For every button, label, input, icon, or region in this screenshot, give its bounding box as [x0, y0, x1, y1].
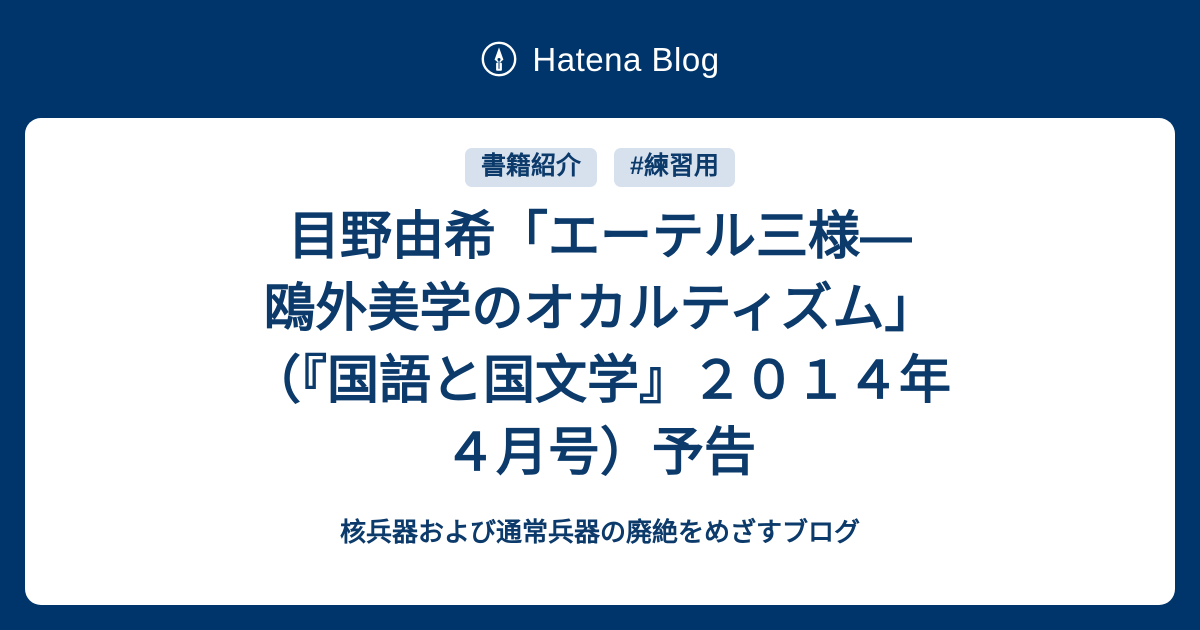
hatena-blog-brand-header: Hatena Blog — [0, 0, 1200, 118]
entry-title-line-1: 目野由希「エーテル三様― — [249, 201, 951, 273]
entry-title-line-3: （『国語と国文学』２０１４年 — [249, 345, 951, 417]
entry-tag-hashtag[interactable]: #練習用 — [614, 148, 735, 187]
blog-subtitle: 核兵器および通常兵器の廃絶をめざすブログ — [340, 517, 860, 548]
pen-nib-in-circle-icon — [480, 40, 518, 78]
entry-title-line-4: ４月号）予告 — [249, 417, 951, 489]
brand-name-label: Hatena Blog — [532, 43, 719, 76]
entry-tag-list: 書籍紹介 #練習用 — [465, 148, 735, 187]
entry-tag-category[interactable]: 書籍紹介 — [465, 148, 597, 187]
entry-title-line-2: 鴎外美学のオカルティズム」 — [249, 273, 951, 345]
ogp-card-root: Hatena Blog 書籍紹介 #練習用 目野由希「エーテル三様― 鴎外美学の… — [0, 0, 1200, 630]
entry-card: 書籍紹介 #練習用 目野由希「エーテル三様― 鴎外美学のオカルティズム」 （『国… — [25, 118, 1175, 605]
entry-title: 目野由希「エーテル三様― 鴎外美学のオカルティズム」 （『国語と国文学』２０１４… — [249, 201, 951, 489]
